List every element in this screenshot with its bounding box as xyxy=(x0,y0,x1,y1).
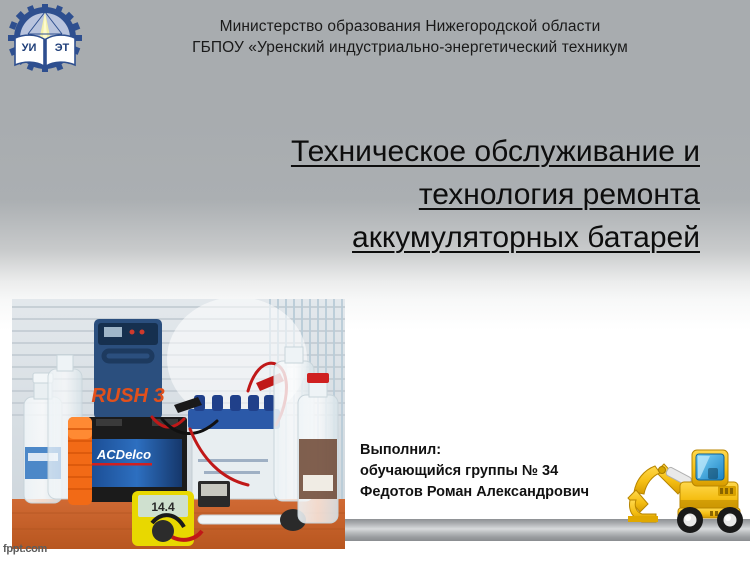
excavator-cabin xyxy=(692,450,728,486)
presentation-slide: УИ ЭТ Министерство образования Нижегород… xyxy=(0,0,750,561)
logo-letters-left: УИ xyxy=(22,42,37,54)
battery-workbench-photo: RUSH 3 ACDelco xyxy=(12,299,345,549)
excavator-illustration xyxy=(622,442,750,538)
orange-flashlight xyxy=(68,417,92,505)
author-line-name: Федотов Роман Александрович xyxy=(360,482,589,503)
author-line-performed-by: Выполнил: xyxy=(360,440,589,461)
title-line-3: аккумуляторных батарей xyxy=(352,216,700,259)
header-line-ministry: Министерство образования Нижегородской о… xyxy=(110,16,710,37)
slide-header: Министерство образования Нижегородской о… xyxy=(110,16,710,58)
test-device xyxy=(198,481,230,507)
title-line-2: технология ремонта xyxy=(419,173,700,216)
header-line-institution: ГБПОУ «Уренский индустриально-энергетиче… xyxy=(110,37,710,58)
title-line-1: Техническое обслуживание и xyxy=(291,130,700,173)
author-block: Выполнил: обучающийся группы № 34 Федото… xyxy=(360,440,589,503)
charger-brand-label: RUSH 3 xyxy=(91,385,164,407)
slide-title: Техническое обслуживание и технология ре… xyxy=(150,130,700,259)
institution-logo: УИ ЭТ xyxy=(8,4,82,76)
bottle-right-front xyxy=(298,373,338,523)
author-line-group: обучающийся группы № 34 xyxy=(360,461,589,482)
battery-charger: RUSH 3 xyxy=(91,319,164,419)
multimeter-reading: 14.4 xyxy=(151,500,175,514)
battery-brand-label: ACDelco xyxy=(96,447,151,462)
logo-letters-right: ЭТ xyxy=(55,42,70,54)
excavator-bucket xyxy=(628,490,658,522)
fppt-watermark: fppt.com xyxy=(3,543,47,555)
multimeter: 14.4 xyxy=(132,491,202,546)
